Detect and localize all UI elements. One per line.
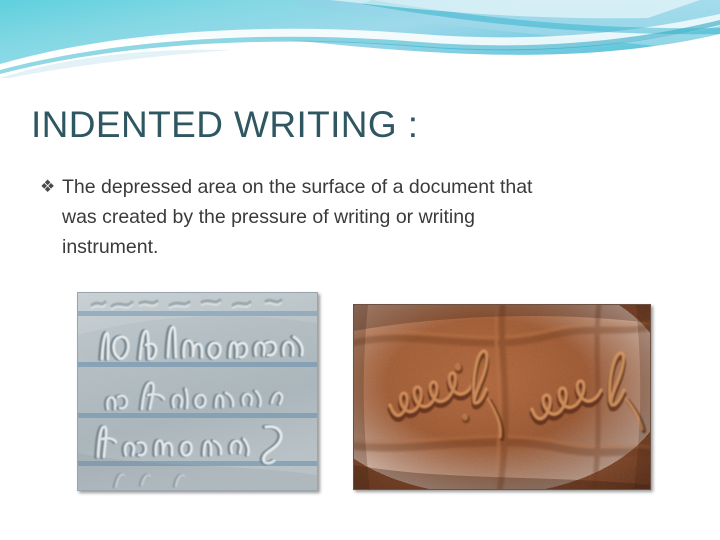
decorative-wave-banner xyxy=(0,0,720,78)
bullet-line: instrument. xyxy=(62,232,660,262)
bullet-line: The depressed area on the surface of a d… xyxy=(62,172,660,202)
leather-photo-surface xyxy=(354,305,650,489)
slide-body: ❖ The depressed area on the surface of a… xyxy=(40,172,660,262)
indented-writing-esda-photo xyxy=(77,292,318,491)
esda-photo-surface xyxy=(78,293,317,490)
diamond-bullet-icon: ❖ xyxy=(40,172,55,202)
bullet-line: was created by the pressure of writing o… xyxy=(62,202,660,232)
bullet-list-item: ❖ The depressed area on the surface of a… xyxy=(40,172,660,262)
presentation-slide: INDENTED WRITING : ❖ The depressed area … xyxy=(0,0,720,540)
bullet-text: The depressed area on the surface of a d… xyxy=(62,172,660,262)
slide-title: INDENTED WRITING : xyxy=(31,103,418,147)
indented-writing-leather-photo xyxy=(353,304,651,490)
